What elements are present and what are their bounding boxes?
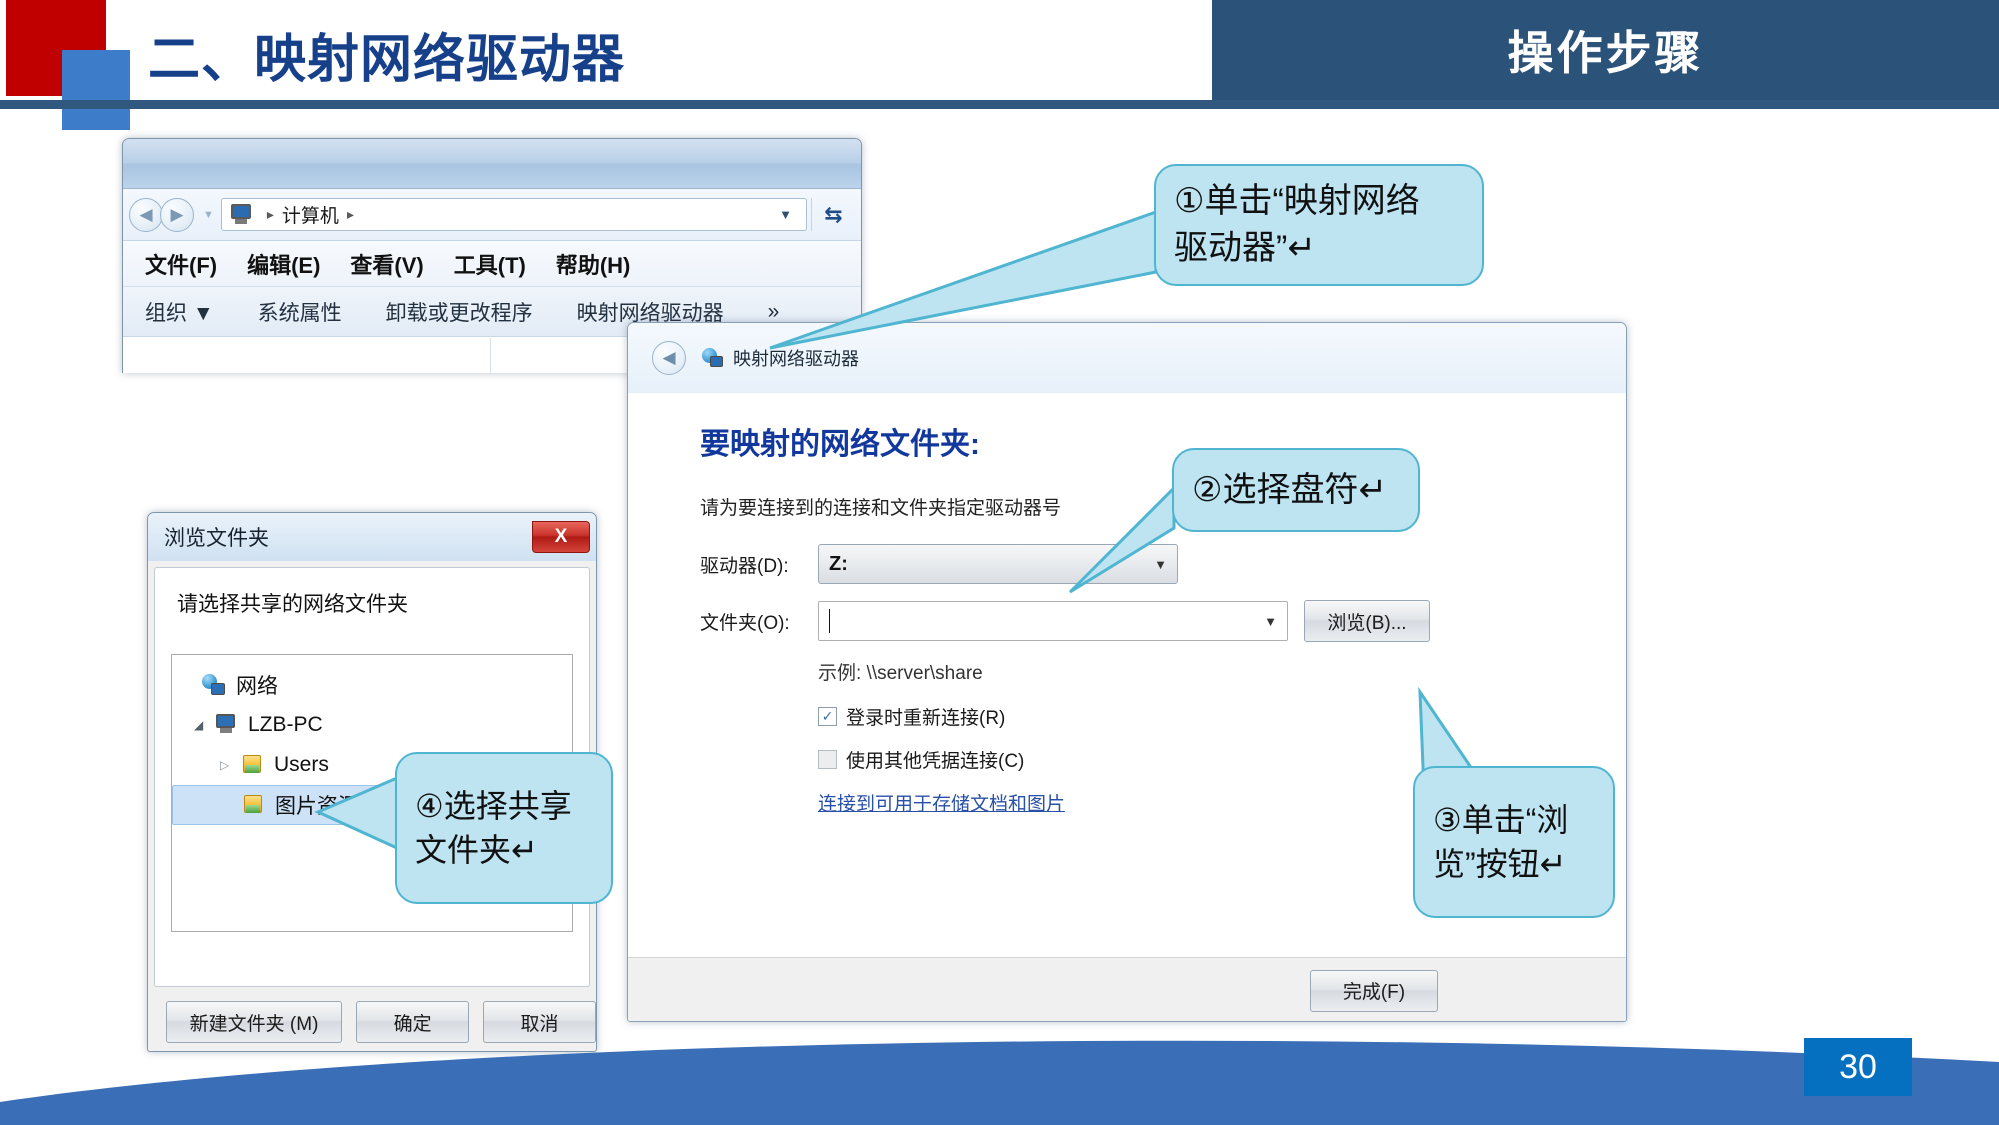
drive-select[interactable]: Z: ▼ bbox=[818, 544, 1178, 584]
callout-step-3: ③单击“浏 览”按钮↵ bbox=[1413, 766, 1615, 918]
text-caret bbox=[829, 609, 830, 633]
back-arrow-icon[interactable]: ◀ bbox=[652, 341, 686, 375]
map-dialog-title: 映射网络驱动器 bbox=[733, 345, 859, 371]
folder-label: 文件夹(O): bbox=[700, 608, 818, 635]
map-dialog-footer: 完成(F) bbox=[628, 957, 1626, 1022]
reconnect-checkbox-label: 登录时重新连接(R) bbox=[846, 703, 1005, 730]
callout-2-line-1: ②选择盘符↵ bbox=[1192, 467, 1400, 514]
drive-label: 驱动器(D): bbox=[700, 551, 818, 578]
menu-file[interactable]: 文件(F) bbox=[145, 248, 217, 280]
tree-item-network[interactable]: 网络 bbox=[172, 665, 572, 705]
footer-decoration bbox=[0, 1030, 1999, 1125]
map-network-drive-icon bbox=[702, 347, 724, 369]
browse-dialog-titlebar: 浏览文件夹 X bbox=[148, 513, 596, 561]
menu-view[interactable]: 查看(V) bbox=[350, 248, 423, 280]
computer-icon bbox=[228, 204, 252, 225]
reconnect-checkbox-row[interactable]: ✓ 登录时重新连接(R) bbox=[628, 703, 1626, 730]
menu-help[interactable]: 帮助(H) bbox=[556, 248, 631, 280]
folder-icon bbox=[240, 754, 266, 776]
slide-canvas: 二、映射网络驱动器 操作步骤 ◀ ▶ ▼ ▸ 计算机 ▸ ▼ ⇆ 文件(F) 编… bbox=[0, 0, 1999, 1125]
address-chevron-down-icon[interactable]: ▼ bbox=[779, 207, 800, 222]
footer-curve-shape bbox=[0, 1030, 1999, 1125]
explorer-navigation-pane bbox=[123, 338, 491, 373]
toolbar-overflow-chevron-icon[interactable]: » bbox=[768, 300, 780, 324]
tree-item-label: LZB-PC bbox=[248, 713, 323, 737]
forward-arrow-icon[interactable]: ▶ bbox=[160, 198, 194, 232]
callout-step-1: ①单击“映射网络 驱动器”↵ bbox=[1154, 164, 1484, 286]
page-number: 30 bbox=[1804, 1038, 1912, 1096]
network-icon bbox=[202, 674, 228, 696]
tree-expander-icon[interactable]: ◢ bbox=[194, 718, 214, 732]
chevron-down-icon: ▼ bbox=[1154, 557, 1167, 572]
explorer-menubar: 文件(F) 编辑(E) 查看(V) 工具(T) 帮助(H) bbox=[123, 241, 861, 287]
map-dialog-description: 请为要连接到的连接和文件夹指定驱动器号 bbox=[628, 493, 1626, 520]
breadcrumb-separator-icon-2: ▸ bbox=[347, 206, 354, 223]
tree-item-label: 网络 bbox=[236, 670, 278, 700]
page-title: 二、映射网络驱动器 bbox=[148, 12, 1148, 96]
close-icon[interactable]: X bbox=[532, 521, 590, 553]
map-dialog-titlebar: ◀ 映射网络驱动器 bbox=[628, 323, 1626, 393]
drive-row: 驱动器(D): Z: ▼ bbox=[628, 544, 1626, 584]
explorer-navigation-bar: ◀ ▶ ▼ ▸ 计算机 ▸ ▼ ⇆ bbox=[123, 189, 861, 241]
callout-4-line-2: 文件夹↵ bbox=[415, 828, 593, 872]
reconnect-checkbox[interactable]: ✓ bbox=[818, 707, 837, 726]
breadcrumb-separator-icon: ▸ bbox=[267, 206, 274, 223]
refresh-icon[interactable]: ⇆ bbox=[811, 198, 855, 231]
toolbar-system-properties[interactable]: 系统属性 bbox=[258, 297, 342, 327]
tree-item-label: 图片资源 bbox=[275, 790, 359, 820]
callout-3-line-2: 览”按钮↵ bbox=[1433, 842, 1595, 886]
header-divider-rule bbox=[0, 100, 1999, 109]
callout-1-line-2: 驱动器”↵ bbox=[1174, 225, 1464, 272]
browse-dialog-title: 浏览文件夹 bbox=[164, 522, 532, 552]
browse-button[interactable]: 浏览(B)... bbox=[1304, 600, 1430, 642]
browse-dialog-prompt: 请选择共享的网络文件夹 bbox=[155, 588, 589, 618]
callout-1-line-1: ①单击“映射网络 bbox=[1174, 178, 1464, 225]
map-dialog-heading: 要映射的网络文件夹: bbox=[628, 419, 1626, 463]
address-bar[interactable]: ▸ 计算机 ▸ ▼ bbox=[221, 198, 807, 231]
breadcrumb-computer[interactable]: 计算机 bbox=[282, 201, 339, 228]
back-arrow-icon[interactable]: ◀ bbox=[129, 198, 163, 232]
history-chevron-down-icon[interactable]: ▼ bbox=[203, 209, 214, 221]
header-blue-square bbox=[62, 50, 130, 130]
tree-item-image-resources[interactable]: 图片资源 bbox=[172, 785, 412, 825]
toolbar-uninstall-program[interactable]: 卸载或更改程序 bbox=[386, 297, 533, 327]
tree-item-lzb-pc[interactable]: ◢ LZB-PC bbox=[172, 705, 572, 745]
page-subtitle: 操作步骤 bbox=[1212, 4, 1999, 96]
menu-tools[interactable]: 工具(T) bbox=[454, 248, 526, 280]
tree-item-label: Users bbox=[274, 753, 329, 777]
folder-input[interactable]: ▼ bbox=[818, 601, 1288, 641]
credentials-checkbox-label: 使用其他凭据连接(C) bbox=[846, 746, 1024, 773]
callout-3-line-1: ③单击“浏 bbox=[1433, 798, 1595, 842]
finish-button[interactable]: 完成(F) bbox=[1310, 970, 1438, 1012]
drive-selected-value: Z: bbox=[829, 553, 1154, 576]
callout-step-2: ②选择盘符↵ bbox=[1172, 448, 1420, 532]
menu-edit[interactable]: 编辑(E) bbox=[247, 248, 320, 280]
folder-icon bbox=[241, 794, 267, 816]
tree-expander-icon[interactable]: ▷ bbox=[220, 758, 240, 772]
explorer-titlebar[interactable] bbox=[123, 139, 861, 189]
callout-4-line-1: ④选择共享 bbox=[415, 784, 593, 828]
folder-example-text: 示例: \\server\share bbox=[628, 658, 1626, 685]
folder-row: 文件夹(O): ▼ 浏览(B)... bbox=[628, 600, 1626, 642]
callout-step-4: ④选择共享 文件夹↵ bbox=[395, 752, 613, 904]
computer-icon bbox=[214, 714, 240, 736]
credentials-checkbox[interactable] bbox=[818, 750, 837, 769]
chevron-down-icon[interactable]: ▼ bbox=[1264, 614, 1277, 629]
toolbar-organize[interactable]: 组织 ▼ bbox=[145, 297, 214, 327]
